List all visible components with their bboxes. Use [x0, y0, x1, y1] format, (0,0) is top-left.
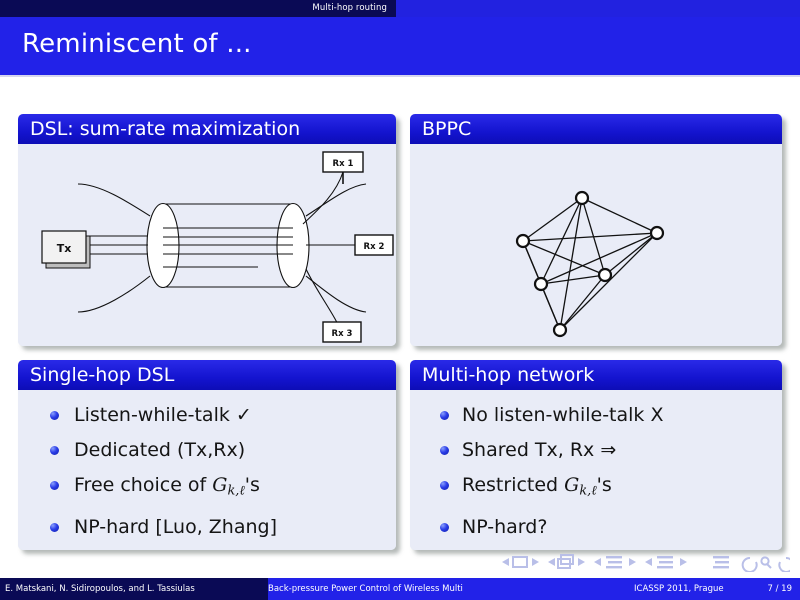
bullet-icon — [50, 481, 59, 490]
next-section-icon — [680, 558, 687, 566]
list-item-label: NP-hard [Luo, Zhang] — [74, 516, 277, 538]
prev-section-icon — [645, 558, 652, 566]
list-item: Restricted Gk,ℓ's — [410, 474, 782, 503]
bullet-icon — [440, 411, 449, 420]
block-dsl-body: Tx Rx 1 Rx 2 Rx 3 — [18, 144, 396, 346]
page-title: Reminiscent of ... — [22, 29, 252, 59]
rx2-node: Rx 2 — [355, 235, 393, 255]
footer-authors: E. Matskani, N. Sidiropoulos, and L. Tas… — [0, 578, 268, 600]
single-hop-bullet-list: Listen-while-talk ✓ Dedicated (Tx,Rx) Fr… — [18, 390, 396, 538]
section-label: Multi-hop routing — [0, 0, 396, 17]
footer-bar: E. Matskani, N. Sidiropoulos, and L. Tas… — [0, 578, 800, 600]
list-item-label: NP-hard? — [462, 516, 547, 538]
block-multi-hop-network: Multi-hop network No listen-while-talk X… — [410, 360, 782, 550]
doc-icon — [713, 556, 729, 568]
list-item: No listen-while-talk X — [410, 404, 782, 426]
block-single-hop-dsl-body: Listen-while-talk ✓ Dedicated (Tx,Rx) Fr… — [18, 390, 396, 550]
graph-nodes — [517, 192, 663, 336]
bullet-icon — [440, 523, 449, 532]
bullet-icon — [50, 446, 59, 455]
bppc-complete-graph-diagram — [410, 144, 782, 346]
block-multi-hop-network-title: Multi-hop network — [410, 360, 782, 390]
next-frame-icon — [578, 558, 585, 566]
prev-slide-icon — [502, 558, 509, 566]
navigation-bar: Multi-hop routing — [0, 0, 800, 17]
footer-venue: ICASSP 2011, Prague — [634, 578, 724, 600]
rx1-label: Rx 1 — [333, 159, 354, 169]
multi-hop-bullet-list: No listen-while-talk X Shared Tx, Rx ⇒ R… — [410, 390, 782, 538]
tx-label: Tx — [57, 242, 72, 255]
footer-page-number: 7 / 19 — [768, 578, 793, 600]
prev-frame-icon — [548, 558, 555, 566]
search-handle-icon — [767, 564, 771, 568]
list-item: Listen-while-talk ✓ — [18, 404, 396, 426]
block-bppc-title: BPPC — [410, 114, 782, 144]
slide-icon — [513, 557, 527, 567]
list-item-label: Shared Tx, Rx ⇒ — [462, 439, 616, 461]
title-divider — [0, 75, 800, 77]
prev-subsection-icon — [594, 558, 601, 566]
rx3-label: Rx 3 — [332, 329, 353, 339]
list-item: Shared Tx, Rx ⇒ — [410, 439, 782, 461]
footer-paper-title: Back-pressure Power Control of Wireless … — [268, 578, 604, 600]
list-item-label: Listen-while-talk ✓ — [74, 404, 252, 426]
list-item-label: No listen-while-talk X — [462, 404, 664, 426]
bullet-icon — [440, 481, 449, 490]
block-single-hop-dsl: Single-hop DSL Listen-while-talk ✓ Dedic… — [18, 360, 396, 550]
block-multi-hop-network-body: No listen-while-talk X Shared Tx, Rx ⇒ R… — [410, 390, 782, 550]
subsection-icon — [606, 556, 622, 568]
list-item-label: Free choice of Gk,ℓ's — [74, 474, 260, 496]
beamer-navigation-symbols[interactable] — [498, 552, 790, 572]
forward-icon — [779, 558, 790, 572]
tx-node: Tx — [42, 231, 90, 268]
block-bppc-body — [410, 144, 782, 346]
rx2-label: Rx 2 — [364, 242, 385, 252]
list-item: Dedicated (Tx,Rx) — [18, 439, 396, 461]
section-icon — [657, 556, 673, 568]
bullet-icon — [50, 411, 59, 420]
list-item: Free choice of Gk,ℓ's — [18, 474, 396, 503]
next-subsection-icon — [629, 558, 636, 566]
list-item: NP-hard? — [410, 516, 782, 538]
block-dsl: DSL: sum-rate maximization — [18, 114, 396, 346]
list-item-label: Restricted Gk,ℓ's — [462, 474, 612, 496]
bullet-icon — [50, 523, 59, 532]
rx3-node: Rx 3 — [323, 322, 361, 342]
next-slide-icon — [532, 558, 539, 566]
block-single-hop-dsl-title: Single-hop DSL — [18, 360, 396, 390]
dsl-cable-bundle-diagram: Tx Rx 1 Rx 2 Rx 3 — [18, 144, 396, 346]
slide-title-bar: Reminiscent of ... — [0, 17, 800, 75]
bullet-icon — [440, 446, 449, 455]
back-icon — [743, 558, 757, 572]
block-bppc: BPPC — [410, 114, 782, 346]
block-dsl-title: DSL: sum-rate maximization — [18, 114, 396, 144]
rx1-node: Rx 1 — [323, 152, 363, 184]
list-item: NP-hard [Luo, Zhang] — [18, 516, 396, 538]
list-item-label: Dedicated (Tx,Rx) — [74, 439, 245, 461]
